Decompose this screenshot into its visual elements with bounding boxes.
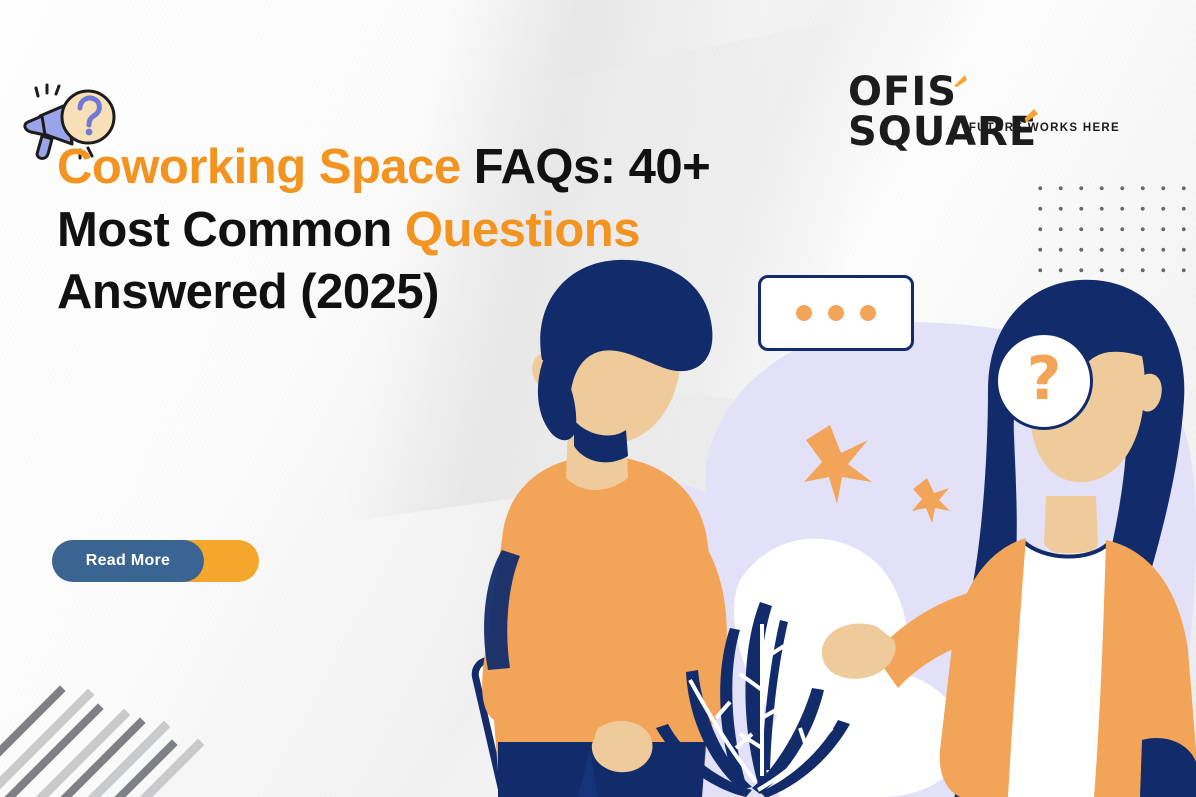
question-mark-circle-icon: ? — [995, 332, 1093, 430]
title-segment-5: Answered (2025) — [57, 265, 439, 319]
sparkle-small-icon — [912, 478, 950, 523]
bubble-dot-3 — [860, 305, 876, 321]
question-mark-glyph: ? — [1027, 349, 1062, 409]
diagonal-stripes-decoration — [0, 601, 222, 797]
faq-banner: ? — [0, 0, 1196, 797]
title-segment-2: FAQs: 40+ — [474, 140, 711, 194]
title-segment-3: Most Common — [57, 203, 405, 257]
logo-wordmark: OFIS SQUARE — [848, 72, 1120, 152]
logo-accent-top-icon — [952, 74, 968, 88]
title-segment-1: Coworking Space — [57, 140, 474, 194]
read-more-button[interactable]: Read More — [52, 540, 259, 582]
title-segment-4: Questions — [405, 203, 640, 257]
sparkle-large-icon — [804, 425, 872, 504]
page-title: Coworking Space FAQs: 40+ Most Common Qu… — [57, 136, 857, 324]
dot-grid-decoration — [1028, 176, 1196, 280]
logo-tagline: FUTURE WORKS HERE — [969, 122, 1120, 134]
brand-logo[interactable]: OFIS SQUARE FUTURE WORKS HERE — [848, 72, 1120, 134]
read-more-button-label[interactable]: Read More — [52, 540, 204, 582]
